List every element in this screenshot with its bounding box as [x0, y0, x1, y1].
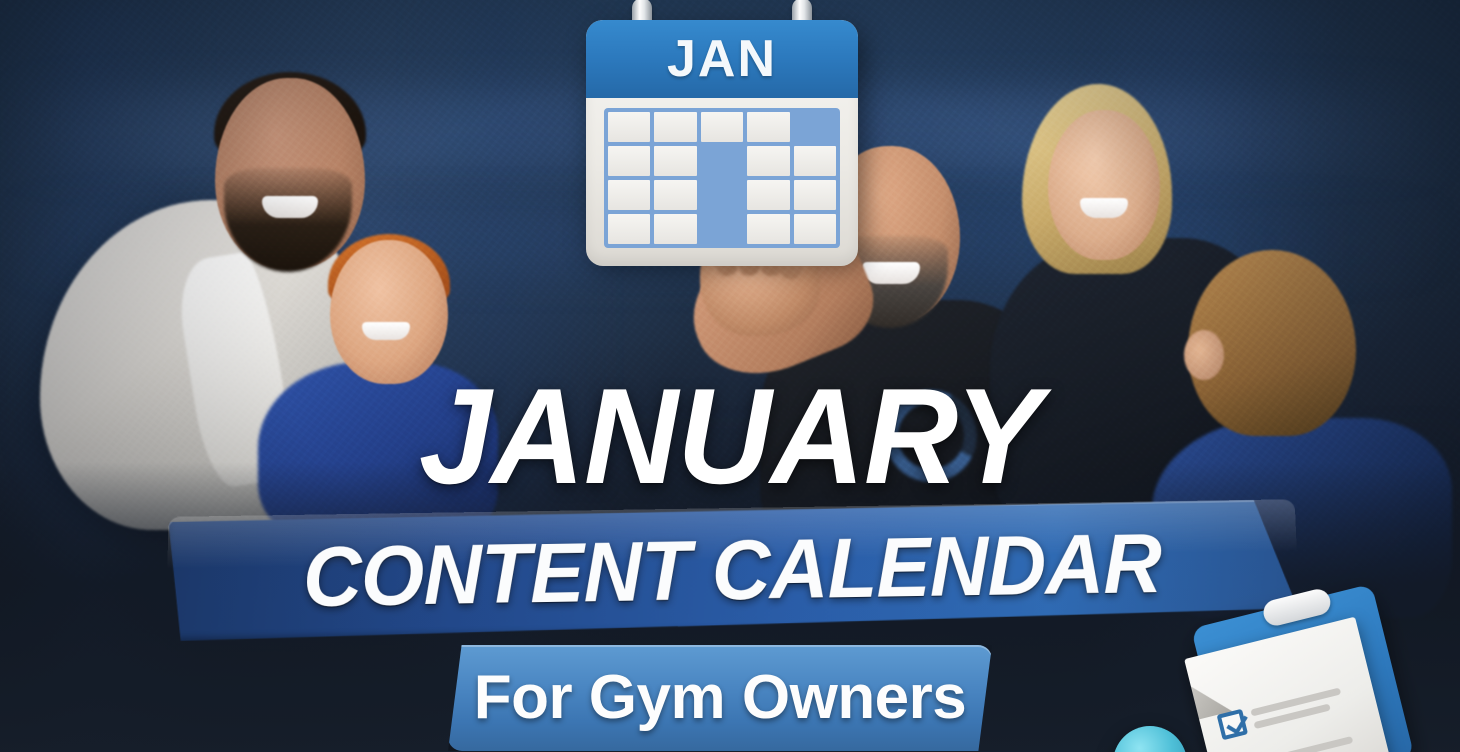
calendar-icon: JAN: [586, 12, 864, 270]
calendar-cell: [654, 180, 696, 210]
calendar-cell: [794, 214, 836, 244]
main-banner: CONTENT CALENDAR: [168, 508, 1296, 632]
main-banner-label: CONTENT CALENDAR: [184, 499, 1280, 641]
calendar-cell: [701, 214, 743, 244]
page-title: JANUARY: [29, 368, 1431, 504]
subtitle-banner-label: For Gym Owners: [448, 645, 992, 751]
calendar-cell: [794, 146, 836, 176]
calendar-cell: [608, 214, 650, 244]
checkbox-checked-icon: [1217, 709, 1249, 741]
calendar-cell: [794, 112, 836, 142]
calendar-cell: [654, 214, 696, 244]
thumbnail-canvas: JAN JANUARY CONTENT CALENDAR For Gym Own…: [0, 0, 1460, 752]
calendar-cell: [701, 112, 743, 142]
calendar-cell: [608, 112, 650, 142]
calendar-cell: [747, 146, 789, 176]
calendar-grid: [604, 108, 840, 248]
calendar-cell: [654, 112, 696, 142]
calendar-cell: [701, 146, 743, 176]
calendar-cell: [654, 146, 696, 176]
checklist-lines: [1250, 687, 1344, 729]
calendar-cell: [747, 214, 789, 244]
subtitle-banner: For Gym Owners: [448, 645, 992, 751]
checklist-line: [1262, 736, 1353, 752]
calendar-cell: [747, 180, 789, 210]
checklist-item: [1217, 685, 1346, 741]
calendar-cell: [747, 112, 789, 142]
calendar-cell: [794, 180, 836, 210]
calendar-cell: [608, 180, 650, 210]
calendar-cell: [701, 180, 743, 210]
calendar-month-label: JAN: [667, 29, 777, 89]
calendar-header: JAN: [586, 20, 858, 98]
checklist-item: [1229, 733, 1358, 752]
checklist-lines: [1262, 736, 1356, 752]
calendar-cell: [608, 146, 650, 176]
